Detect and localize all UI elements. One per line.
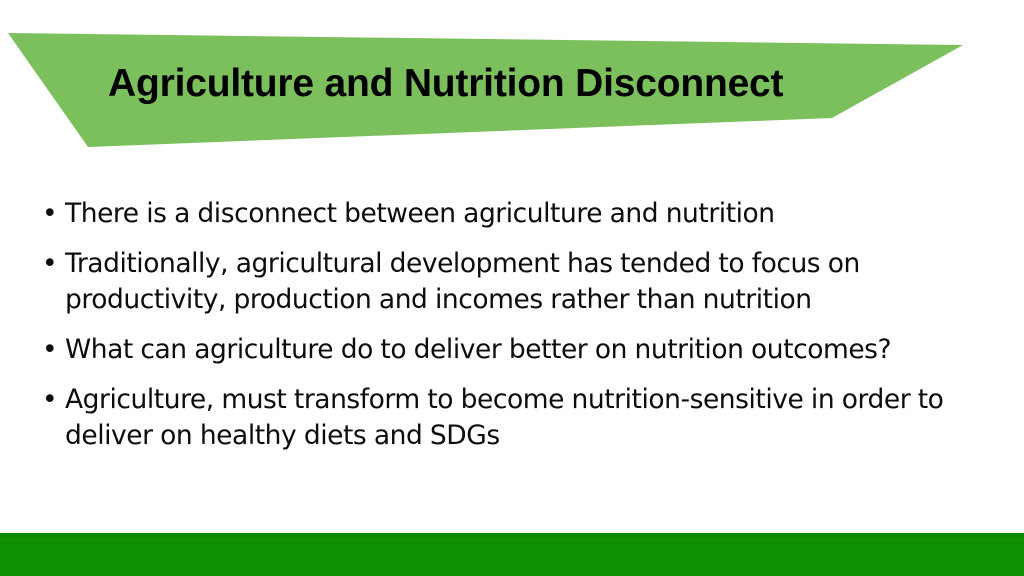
footer-band bbox=[0, 533, 1024, 576]
list-item-text: There is a disconnect between agricultur… bbox=[65, 198, 775, 229]
slide-canvas: Agriculture and Nutrition Disconnect • T… bbox=[0, 0, 1024, 576]
list-item-text: Agriculture, must transform to become nu… bbox=[65, 384, 943, 451]
page-title: Agriculture and Nutrition Disconnect bbox=[108, 62, 908, 106]
bullet-list: • There is a disconnect between agricult… bbox=[40, 196, 984, 454]
bullet-icon: • bbox=[42, 382, 60, 418]
list-item: • What can agriculture do to deliver bet… bbox=[40, 332, 984, 368]
list-item: • There is a disconnect between agricult… bbox=[40, 196, 984, 232]
list-item-text: Traditionally, agricultural development … bbox=[65, 248, 860, 315]
bullet-icon: • bbox=[42, 196, 60, 232]
bullet-icon: • bbox=[42, 246, 60, 282]
list-item: • Agriculture, must transform to become … bbox=[40, 382, 984, 454]
bullet-icon: • bbox=[42, 332, 60, 368]
list-item: • Traditionally, agricultural developmen… bbox=[40, 246, 984, 318]
list-item-text: What can agriculture do to deliver bette… bbox=[65, 334, 891, 365]
footer-band-highlight bbox=[0, 533, 1024, 537]
